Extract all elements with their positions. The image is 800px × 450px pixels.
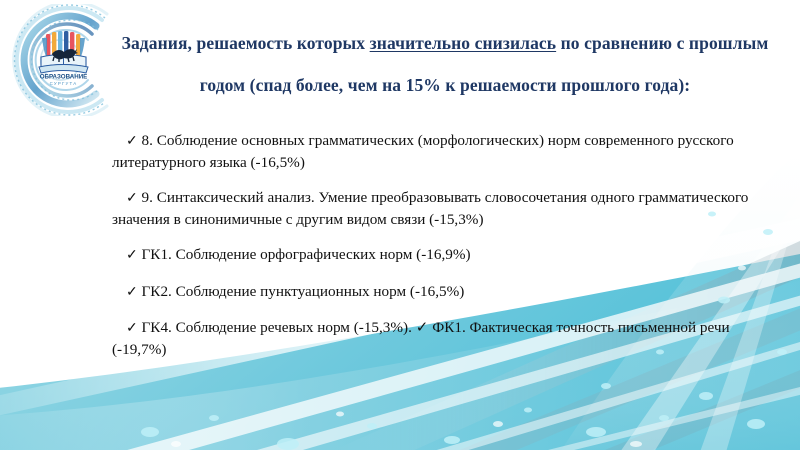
bullet-list: ✓ 8. Соблюдение основных грамматических … — [112, 131, 762, 360]
list-item: ✓ ГК1. Соблюдение орфографических норм (… — [112, 245, 762, 267]
title-emphasis: значительно снизилась — [370, 33, 557, 53]
check-icon: ✓ — [126, 321, 138, 336]
list-item-text: ГК1. Соблюдение орфографических норм (-1… — [142, 246, 471, 263]
list-item-text: ГК2. Соблюдение пунктуационных норм (-16… — [142, 283, 465, 300]
list-item: ✓ 8. Соблюдение основных грамматических … — [112, 131, 762, 173]
check-icon: ✓ — [126, 191, 138, 206]
check-icon: ✓ — [126, 285, 138, 300]
check-icon: ✓ — [126, 134, 138, 149]
title-part-1: Задания, решаемость которых — [122, 33, 370, 53]
list-item-text: 8. Соблюдение основных грамматических (м… — [112, 132, 734, 171]
list-item-text: 9. Синтаксический анализ. Умение преобра… — [112, 189, 748, 228]
logo-emblem-subtext: СУРГУТА — [50, 81, 78, 86]
list-item: ✓ 9. Синтаксический анализ. Умение преоб… — [112, 188, 762, 230]
list-item: ✓ ГК4. Соблюдение речевых норм (-15,3%).… — [112, 318, 762, 360]
logo-emblem-text: ОБРАЗОВАНИЕ — [40, 74, 88, 81]
list-item-text: ГК4. Соблюдение речевых норм (-15,3%). ✓… — [112, 319, 730, 358]
check-icon: ✓ — [126, 248, 138, 263]
list-item: ✓ ГК2. Соблюдение пунктуационных норм (-… — [112, 282, 762, 304]
slide-title: Задания, решаемость которых значительно … — [104, 22, 786, 106]
presentation-slide: ОБРАЗОВАНИЕ СУРГУТА Задания, решаемость … — [0, 0, 800, 450]
